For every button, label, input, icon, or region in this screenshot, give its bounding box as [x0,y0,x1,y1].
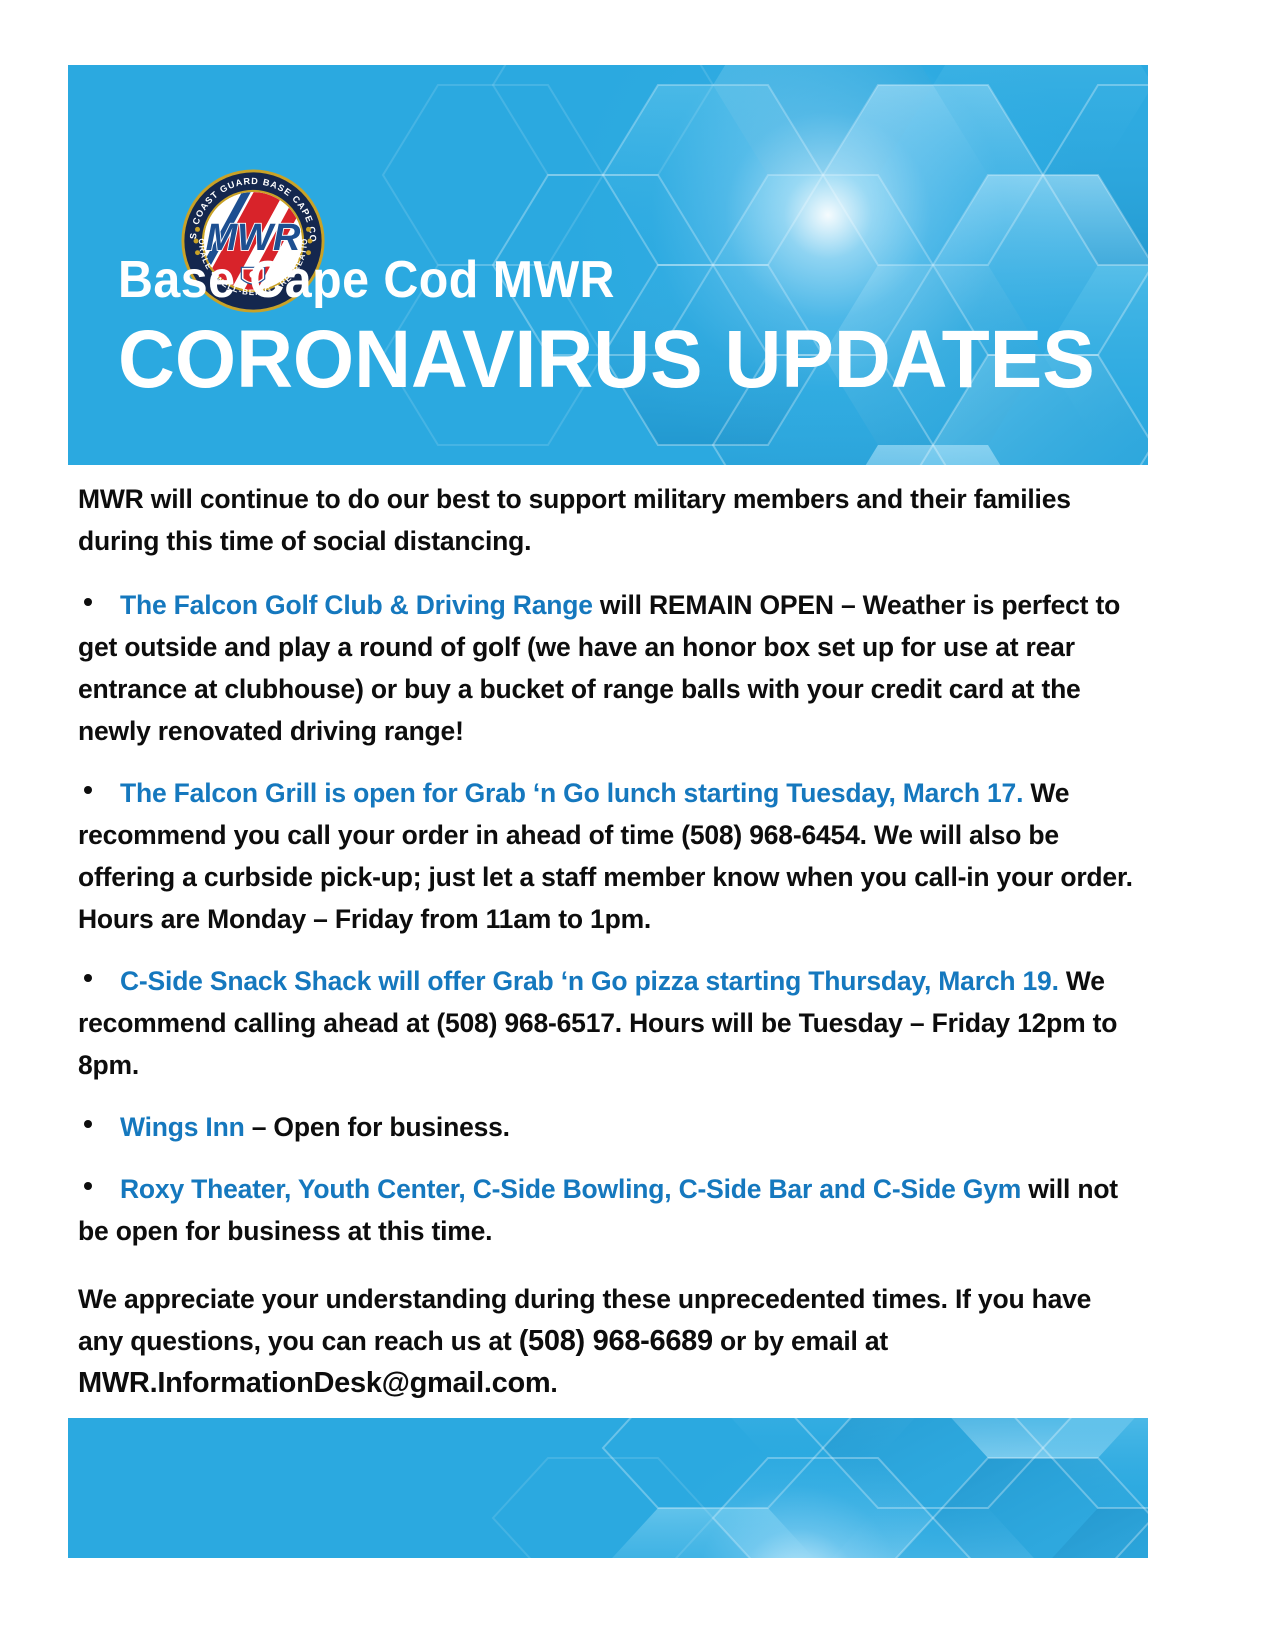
bullet-dot-icon [84,598,92,606]
bullet-highlight: Roxy Theater, Youth Center, C-Side Bowli… [120,1174,1021,1204]
bullet-text: Wings Inn – Open for business. [78,1106,1136,1148]
footer-light-glow [648,1438,948,1558]
bullet-item-falcon-golf-club: The Falcon Golf Club & Driving Range wil… [78,584,1136,752]
bullet-highlight: Wings Inn [120,1112,245,1142]
bullet-text: Roxy Theater, Youth Center, C-Side Bowli… [78,1168,1136,1252]
bullet-text: The Falcon Grill is open for Grab ‘n Go … [78,772,1136,940]
bullet-highlight: The Falcon Grill is open for Grab ‘n Go … [120,778,1023,808]
bullet-item-wings-inn: Wings Inn – Open for business. [78,1106,1136,1148]
footer-hexagon-pattern-icon [68,1418,1148,1558]
bullet-dot-icon [84,786,92,794]
intro-paragraph: MWR will continue to do our best to supp… [78,478,1136,562]
bullet-text: C-Side Snack Shack will offer Grab ‘n Go… [78,960,1136,1086]
header-main-title: CORONAVIRUS UPDATES [118,314,1107,406]
contact-email: MWR.InformationDesk@gmail.com [78,1367,550,1399]
header-banner: U.S. COAST GUARD BASE CAPE COD MORALE • … [68,65,1148,465]
bullet-item-closed-facilities: Roxy Theater, Youth Center, C-Side Bowli… [78,1168,1136,1252]
footer-banner [68,1418,1148,1558]
body-content: MWR will continue to do our best to supp… [78,478,1136,1422]
bullet-rest: – Open for business. [245,1112,510,1142]
bullet-highlight: The Falcon Golf Club & Driving Range [120,590,593,620]
header-subtitle: Base Cape Cod MWR [118,250,1076,310]
bullet-item-cside-snack-shack: C-Side Snack Shack will offer Grab ‘n Go… [78,960,1136,1086]
closing-text-part2: or by email at [713,1326,888,1356]
header-title-group: Base Cape Cod MWR CORONAVIRUS UPDATES [118,250,1148,406]
bullet-dot-icon [84,1182,92,1190]
bullet-highlight: C-Side Snack Shack will offer Grab ‘n Go… [120,966,1059,996]
closing-paragraph: We appreciate your understanding during … [78,1278,1136,1404]
contact-phone: (508) 968-6689 [519,1325,713,1357]
bullet-dot-icon [84,1120,92,1128]
bullet-item-falcon-grill: The Falcon Grill is open for Grab ‘n Go … [78,772,1136,940]
bullet-dot-icon [84,974,92,982]
closing-text-part3: . [550,1368,557,1398]
bullet-text: The Falcon Golf Club & Driving Range wil… [78,584,1136,752]
flyer-sheet: U.S. COAST GUARD BASE CAPE COD MORALE • … [0,0,1275,1650]
